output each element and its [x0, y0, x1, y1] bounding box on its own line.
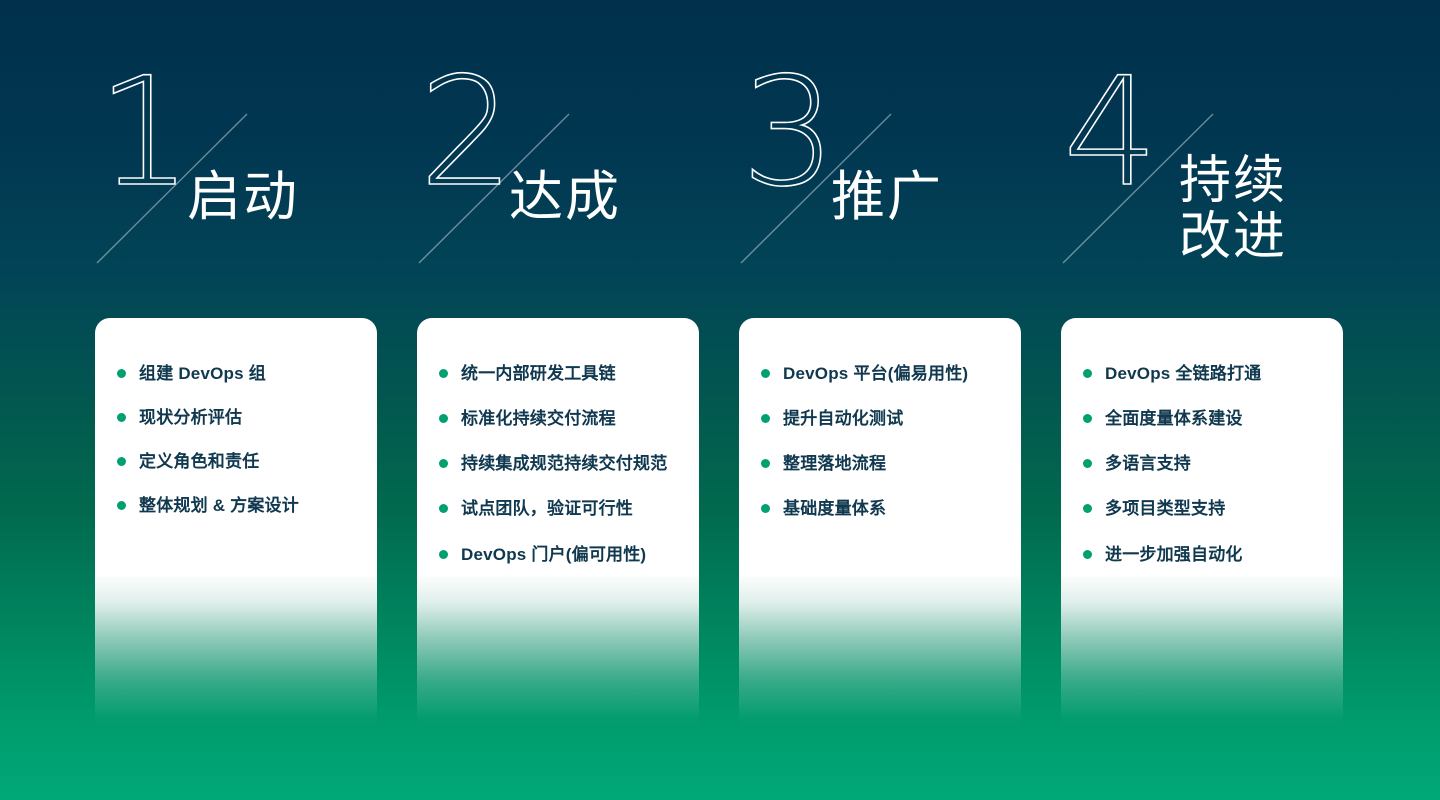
stage-list-2: 统一内部研发工具链 标准化持续交付流程 持续集成规范持续交付规范 试点团队，验证… [417, 318, 699, 567]
stage-number-4: 4 [1063, 58, 1158, 208]
stage-header-4: 4 持续 改进 [1061, 58, 1383, 308]
stage-number-3: 3 [741, 58, 836, 208]
list-item-label: 试点团队，验证可行性 [461, 499, 633, 518]
list-item: 现状分析评估 [115, 406, 355, 430]
bullet-icon [1083, 414, 1092, 423]
stage-title-2: 达成 [509, 168, 739, 226]
stage-title-1: 启动 [187, 168, 417, 226]
bullet-icon [761, 369, 770, 378]
list-item-label: 组建 DevOps 组 [139, 364, 266, 383]
bullet-icon [439, 550, 448, 559]
stage-column-1: 1 启动 组建 DevOps 组 现状分析评估 定义角色和责任 整体规划 & 方… [95, 0, 417, 800]
bullet-icon [117, 501, 126, 510]
stage-card-4: DevOps 全链路打通 全面度量体系建设 多语言支持 多项目类型支持 进一步加… [1061, 318, 1343, 730]
list-item-label: 提升自动化测试 [783, 409, 903, 428]
stage-column-3: 3 推广 DevOps 平台(偏易用性) 提升自动化测试 整理落地流程 基础度量… [739, 0, 1061, 800]
list-item-label: 全面度量体系建设 [1105, 409, 1243, 428]
list-item: 多语言支持 [1081, 452, 1321, 476]
stage-column-2: 2 达成 统一内部研发工具链 标准化持续交付流程 持续集成规范持续交付规范 试点… [417, 0, 739, 800]
stage-card-2: 统一内部研发工具链 标准化持续交付流程 持续集成规范持续交付规范 试点团队，验证… [417, 318, 699, 730]
stage-header-1: 1 启动 [95, 58, 417, 308]
stage-header-3: 3 推广 [739, 58, 1061, 308]
stage-title-3: 推广 [831, 168, 1061, 226]
bullet-icon [1083, 550, 1092, 559]
stage-card-3: DevOps 平台(偏易用性) 提升自动化测试 整理落地流程 基础度量体系 [739, 318, 1021, 730]
list-item: 全面度量体系建设 [1081, 407, 1321, 431]
list-item: 多项目类型支持 [1081, 497, 1321, 521]
list-item: DevOps 平台(偏易用性) [759, 362, 999, 386]
bullet-icon [117, 457, 126, 466]
list-item: 整理落地流程 [759, 452, 999, 476]
list-item-label: 统一内部研发工具链 [461, 364, 616, 383]
list-item: 进一步加强自动化 [1081, 543, 1321, 567]
list-item-label: 多语言支持 [1105, 454, 1191, 473]
list-item: 标准化持续交付流程 [437, 407, 677, 431]
bullet-icon [761, 459, 770, 468]
bullet-icon [761, 504, 770, 513]
list-item: 提升自动化测试 [759, 407, 999, 431]
stage-card-1: 组建 DevOps 组 现状分析评估 定义角色和责任 整体规划 & 方案设计 [95, 318, 377, 730]
list-item-label: 多项目类型支持 [1105, 499, 1225, 518]
stage-columns: 1 启动 组建 DevOps 组 现状分析评估 定义角色和责任 整体规划 & 方… [0, 0, 1440, 800]
list-item-label: 持续集成规范持续交付规范 [461, 454, 667, 473]
list-item-label: 现状分析评估 [139, 408, 242, 427]
list-item-label: 整体规划 & 方案设计 [139, 496, 299, 515]
list-item: DevOps 全链路打通 [1081, 362, 1321, 386]
bullet-icon [1083, 369, 1092, 378]
stage-list-4: DevOps 全链路打通 全面度量体系建设 多语言支持 多项目类型支持 进一步加… [1061, 318, 1343, 567]
list-item-label: 标准化持续交付流程 [461, 409, 616, 428]
roadmap-diagram: 1 启动 组建 DevOps 组 现状分析评估 定义角色和责任 整体规划 & 方… [0, 0, 1440, 800]
list-item: 试点团队，验证可行性 [437, 497, 677, 521]
list-item-label: DevOps 门户(偏可用性) [461, 545, 646, 564]
list-item: 统一内部研发工具链 [437, 362, 677, 386]
stage-number-2: 2 [419, 58, 514, 208]
list-item-label: DevOps 平台(偏易用性) [783, 364, 968, 383]
bullet-icon [117, 413, 126, 422]
bullet-icon [439, 414, 448, 423]
stage-header-2: 2 达成 [417, 58, 739, 308]
stage-number-1: 1 [97, 58, 192, 208]
bullet-icon [439, 504, 448, 513]
bullet-icon [117, 369, 126, 378]
list-item: 持续集成规范持续交付规范 [437, 452, 677, 476]
bullet-icon [439, 459, 448, 468]
stage-column-4: 4 持续 改进 DevOps 全链路打通 全面度量体系建设 多语言支持 多项目类… [1061, 0, 1383, 800]
list-item: 定义角色和责任 [115, 450, 355, 474]
bullet-icon [1083, 504, 1092, 513]
bullet-icon [1083, 459, 1092, 468]
list-item: 基础度量体系 [759, 497, 999, 521]
bullet-icon [761, 414, 770, 423]
list-item-label: 整理落地流程 [783, 454, 886, 473]
list-item: 组建 DevOps 组 [115, 362, 355, 386]
list-item-label: 基础度量体系 [783, 499, 886, 518]
list-item: DevOps 门户(偏可用性) [437, 543, 677, 567]
list-item-label: 定义角色和责任 [139, 452, 259, 471]
bullet-icon [439, 369, 448, 378]
stage-list-3: DevOps 平台(偏易用性) 提升自动化测试 整理落地流程 基础度量体系 [739, 318, 1021, 522]
list-item-label: 进一步加强自动化 [1105, 545, 1243, 564]
stage-title-4: 持续 改进 [1179, 154, 1409, 265]
stage-list-1: 组建 DevOps 组 现状分析评估 定义角色和责任 整体规划 & 方案设计 [95, 318, 377, 519]
list-item: 整体规划 & 方案设计 [115, 494, 355, 518]
list-item-label: DevOps 全链路打通 [1105, 364, 1261, 383]
